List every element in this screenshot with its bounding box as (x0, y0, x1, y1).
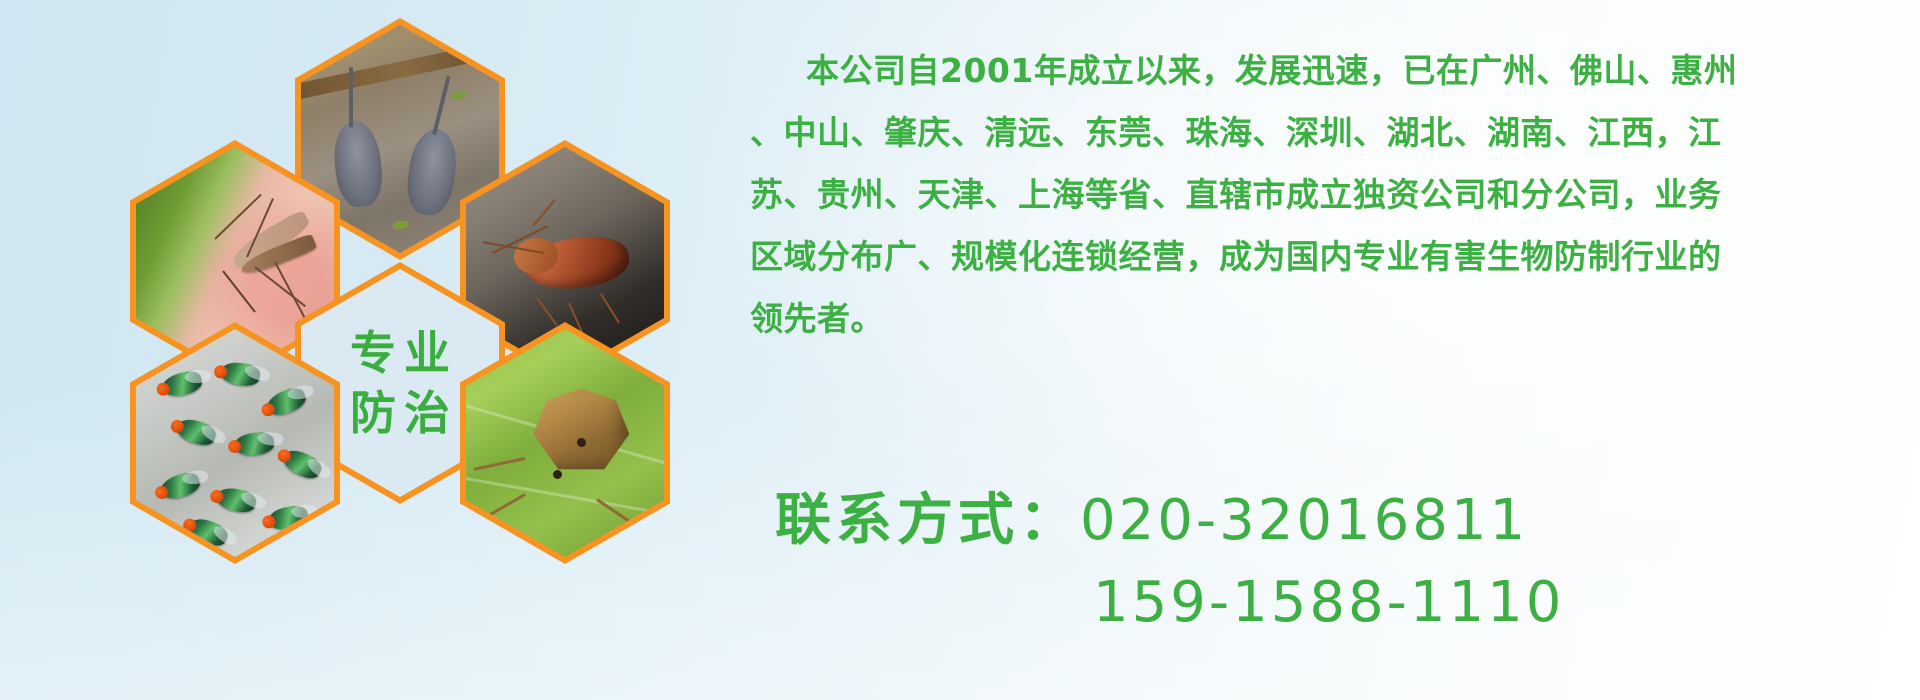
contact-phone-primary[interactable]: 020-32016811 (1080, 488, 1528, 553)
slogan-line-1: 专业 (342, 330, 458, 376)
intro-line-5: 领先者。 (750, 288, 1880, 350)
intro-line-4: 区域分布广、规模化连锁经营，成为国内专业有害生物防制行业的 (750, 226, 1880, 288)
intro-line-3: 苏、贵州、天津、上海等省、直辖市成立独资公司和分公司，业务 (750, 164, 1880, 226)
contact-primary-line: 联系方式：020-32016811 (775, 480, 1875, 562)
company-intro-paragraph: 本公司自2001年成立以来，发展迅速，已在广州、佛山、惠州 、中山、肇庆、清远、… (750, 40, 1880, 350)
contact-phone-secondary[interactable]: 159-1588-1110 (1093, 570, 1564, 635)
intro-line-1: 本公司自2001年成立以来，发展迅速，已在广州、佛山、惠州 (750, 40, 1880, 102)
contact-secondary-line: 159-1588-1110 (775, 562, 1875, 644)
honeycomb-logo-cluster: 专业 防治 (110, 0, 710, 700)
flies-illustration (136, 329, 334, 557)
hex-cell-stink-bug-inner (466, 329, 664, 557)
contact-label: 联系方式： (775, 488, 1080, 553)
stink-bug-illustration (466, 329, 664, 557)
slogan-line-2: 防治 (342, 390, 458, 436)
banner-content: 本公司自2001年成立以来，发展迅速，已在广州、佛山、惠州 、中山、肇庆、清远、… (735, 0, 1895, 700)
intro-line-2: 、中山、肇庆、清远、东莞、珠海、深圳、湖北、湖南、江西，江 (750, 102, 1880, 164)
contact-block: 联系方式：020-32016811 159-1588-1110 (775, 480, 1875, 644)
hex-cell-flies-inner (136, 329, 334, 557)
pest-control-banner: 专业 防治 (0, 0, 1920, 700)
